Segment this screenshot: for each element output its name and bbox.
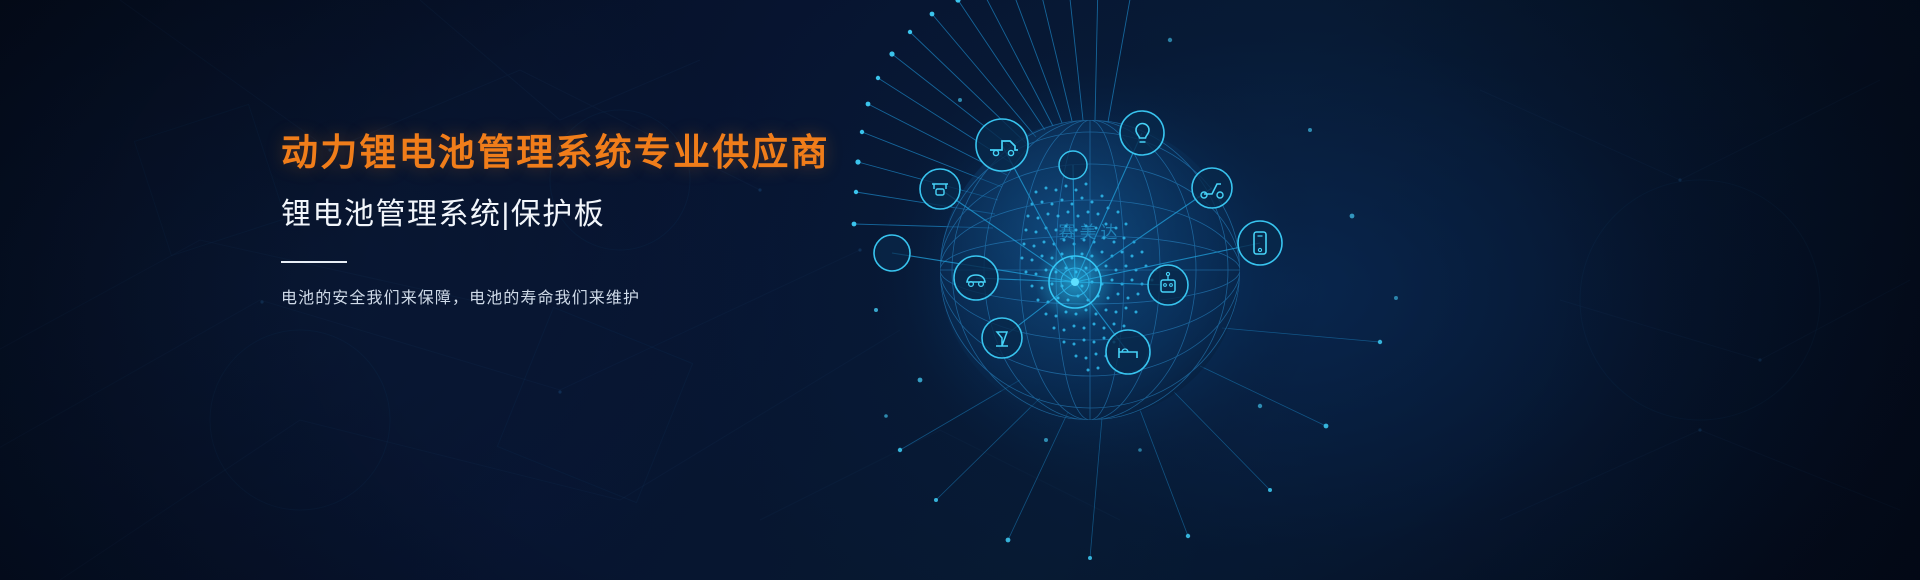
truck-icon [976, 119, 1028, 171]
title-divider [281, 261, 347, 263]
banner-tagline: 电池的安全我们来保障，电池的寿命我们来维护 [281, 287, 981, 311]
scooter-icon [1192, 168, 1232, 208]
banner-copy: 动力锂电池管理系统专业供应商 锂电池管理系统|保护板 电池的安全我们来保障，电池… [281, 130, 981, 311]
bed-icon [1106, 330, 1150, 374]
globe-watermark-text: 赛美达 [1059, 222, 1122, 242]
banner-subtitle: 锂电池管理系统|保护板 [281, 197, 981, 233]
empty-node-icon [1059, 151, 1087, 179]
desk-lamp-icon [982, 318, 1022, 358]
robot-icon [1148, 265, 1188, 305]
hub-node-icon [1035, 242, 1115, 322]
phone-icon [1238, 221, 1282, 265]
banner-headline: 动力锂电池管理系统专业供应商 [281, 130, 981, 175]
hero-banner: 赛美达 [0, 0, 1920, 580]
lightbulb-icon [1120, 111, 1164, 155]
